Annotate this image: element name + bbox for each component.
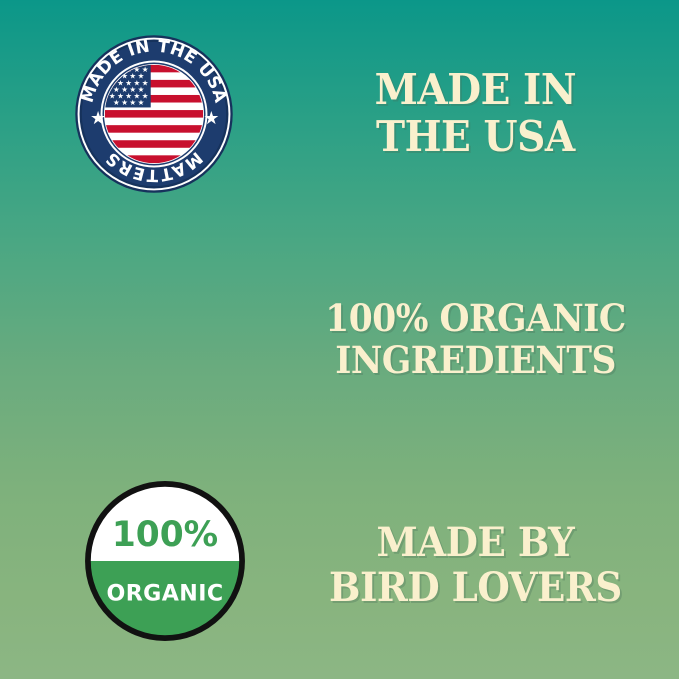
svg-text:★: ★ bbox=[138, 98, 145, 107]
claim-organic: 100% ORGANIC INGREDIENTS bbox=[325, 298, 626, 381]
claim-line-1: MADE BY bbox=[329, 521, 622, 566]
claim-line-2: INGREDIENTS bbox=[325, 340, 626, 381]
seal-star-right-icon: ★ bbox=[203, 108, 219, 128]
product-feature-poster: ★★★ ★★ ★★★ ★ ★★★ ★★ ★★★ ★ ★★★ ★★ ★★★ ★ bbox=[0, 0, 679, 679]
organic-text-column: 100% ORGANIC INGREDIENTS bbox=[290, 226, 679, 453]
birdwatcher-icon-column bbox=[0, 453, 290, 679]
svg-text:★: ★ bbox=[121, 98, 128, 107]
claim-line-1: MADE IN bbox=[375, 66, 577, 113]
organic-icon-column: 100% ORGANIC bbox=[0, 226, 290, 453]
feature-row-organic: 100% ORGANIC 100% ORGANIC INGREDIENTS bbox=[0, 226, 679, 453]
svg-text:★: ★ bbox=[113, 98, 120, 107]
bird-lovers-text-column: MADE BY BIRD LOVERS bbox=[290, 453, 679, 679]
made-in-usa-seal-icon: ★★★ ★★ ★★★ ★ ★★★ ★★ ★★★ ★ ★★★ ★★ ★★★ ★ bbox=[72, 32, 236, 196]
svg-text:★: ★ bbox=[129, 98, 136, 107]
claim-line-2: BIRD LOVERS bbox=[329, 566, 622, 611]
seal-star-left-icon: ★ bbox=[90, 108, 106, 128]
claim-line-1: 100% ORGANIC bbox=[325, 298, 626, 339]
made-in-usa-text-column: MADE IN THE USA bbox=[290, 0, 679, 226]
made-in-usa-icon-column: ★★★ ★★ ★★★ ★ ★★★ ★★ ★★★ ★ ★★★ ★★ ★★★ ★ bbox=[0, 0, 290, 226]
feature-row-made-in-usa: ★★★ ★★ ★★★ ★ ★★★ ★★ ★★★ ★ ★★★ ★★ ★★★ ★ bbox=[0, 0, 679, 226]
feature-row-bird-lovers: MADE BY BIRD LOVERS bbox=[0, 453, 679, 679]
claim-bird-lovers: MADE BY BIRD LOVERS bbox=[329, 521, 622, 611]
claim-made-in-usa: MADE IN THE USA bbox=[375, 66, 577, 160]
claim-line-2: THE USA bbox=[375, 113, 577, 160]
